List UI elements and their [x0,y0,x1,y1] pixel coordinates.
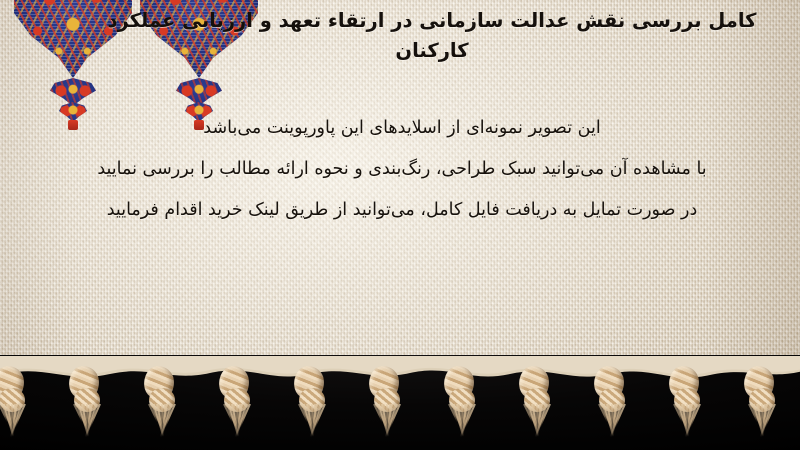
tassel-strands [213,404,261,450]
slide-body-line: در صورت تمایل به دریافت فایل کامل، می‌تو… [44,190,760,231]
page-title: کامل بررسی نقش عدالت سازمانی در ارتقاء ت… [82,6,782,66]
tassel-strands [363,404,411,450]
tassel-strands [588,404,636,450]
carpet-tassel-fringe [0,362,800,450]
slide-body-line: با مشاهده آن می‌توانید سبک طراحی، رنگ‌بن… [44,149,760,190]
presentation-slide: کامل بررسی نقش عدالت سازمانی در ارتقاء ت… [0,0,800,450]
carpet-tassel [130,362,190,450]
tassel-strands [738,404,786,450]
slide-body-text: این تصویر نمونه‌ای از اسلایدهای این پاور… [44,108,760,231]
tassel-strands [288,404,336,450]
tassel-strands [663,404,711,450]
carpet-tassel [730,362,790,450]
carpet-tassel [655,362,715,450]
slide-text-layer: کامل بررسی نقش عدالت سازمانی در ارتقاء ت… [0,0,800,372]
carpet-tassel [205,362,265,450]
tassel-strands [63,404,111,450]
carpet-tassel [580,362,640,450]
tassel-strands [0,404,36,450]
carpet-tassel [430,362,490,450]
carpet-tassel [280,362,340,450]
tassel-strands [438,404,486,450]
carpet-tassel [55,362,115,450]
carpet-tassel [505,362,565,450]
tassel-strands [513,404,561,450]
carpet-tassel [0,362,40,450]
slide-body-line: این تصویر نمونه‌ای از اسلایدهای این پاور… [44,108,760,149]
carpet-tassel [355,362,415,450]
tassel-strands [138,404,186,450]
